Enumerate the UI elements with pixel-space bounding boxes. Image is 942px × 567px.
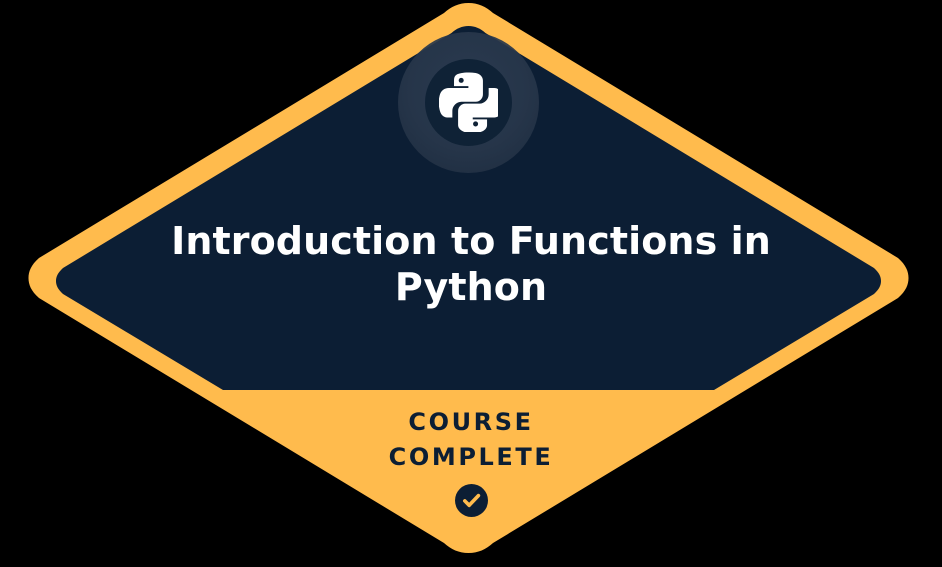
check-circle-icon (455, 484, 488, 517)
check-badge (455, 484, 488, 517)
status-label: COURSE COMPLETE (231, 405, 711, 475)
course-completion-badge: Introduction to Functions in Python COUR… (0, 0, 942, 567)
title-block: Introduction to Functions in Python (131, 218, 811, 310)
course-title: Introduction to Functions in Python (131, 218, 811, 310)
diamond-inner-panel (56, 26, 881, 390)
completion-footer: COURSE COMPLETE (231, 405, 711, 517)
